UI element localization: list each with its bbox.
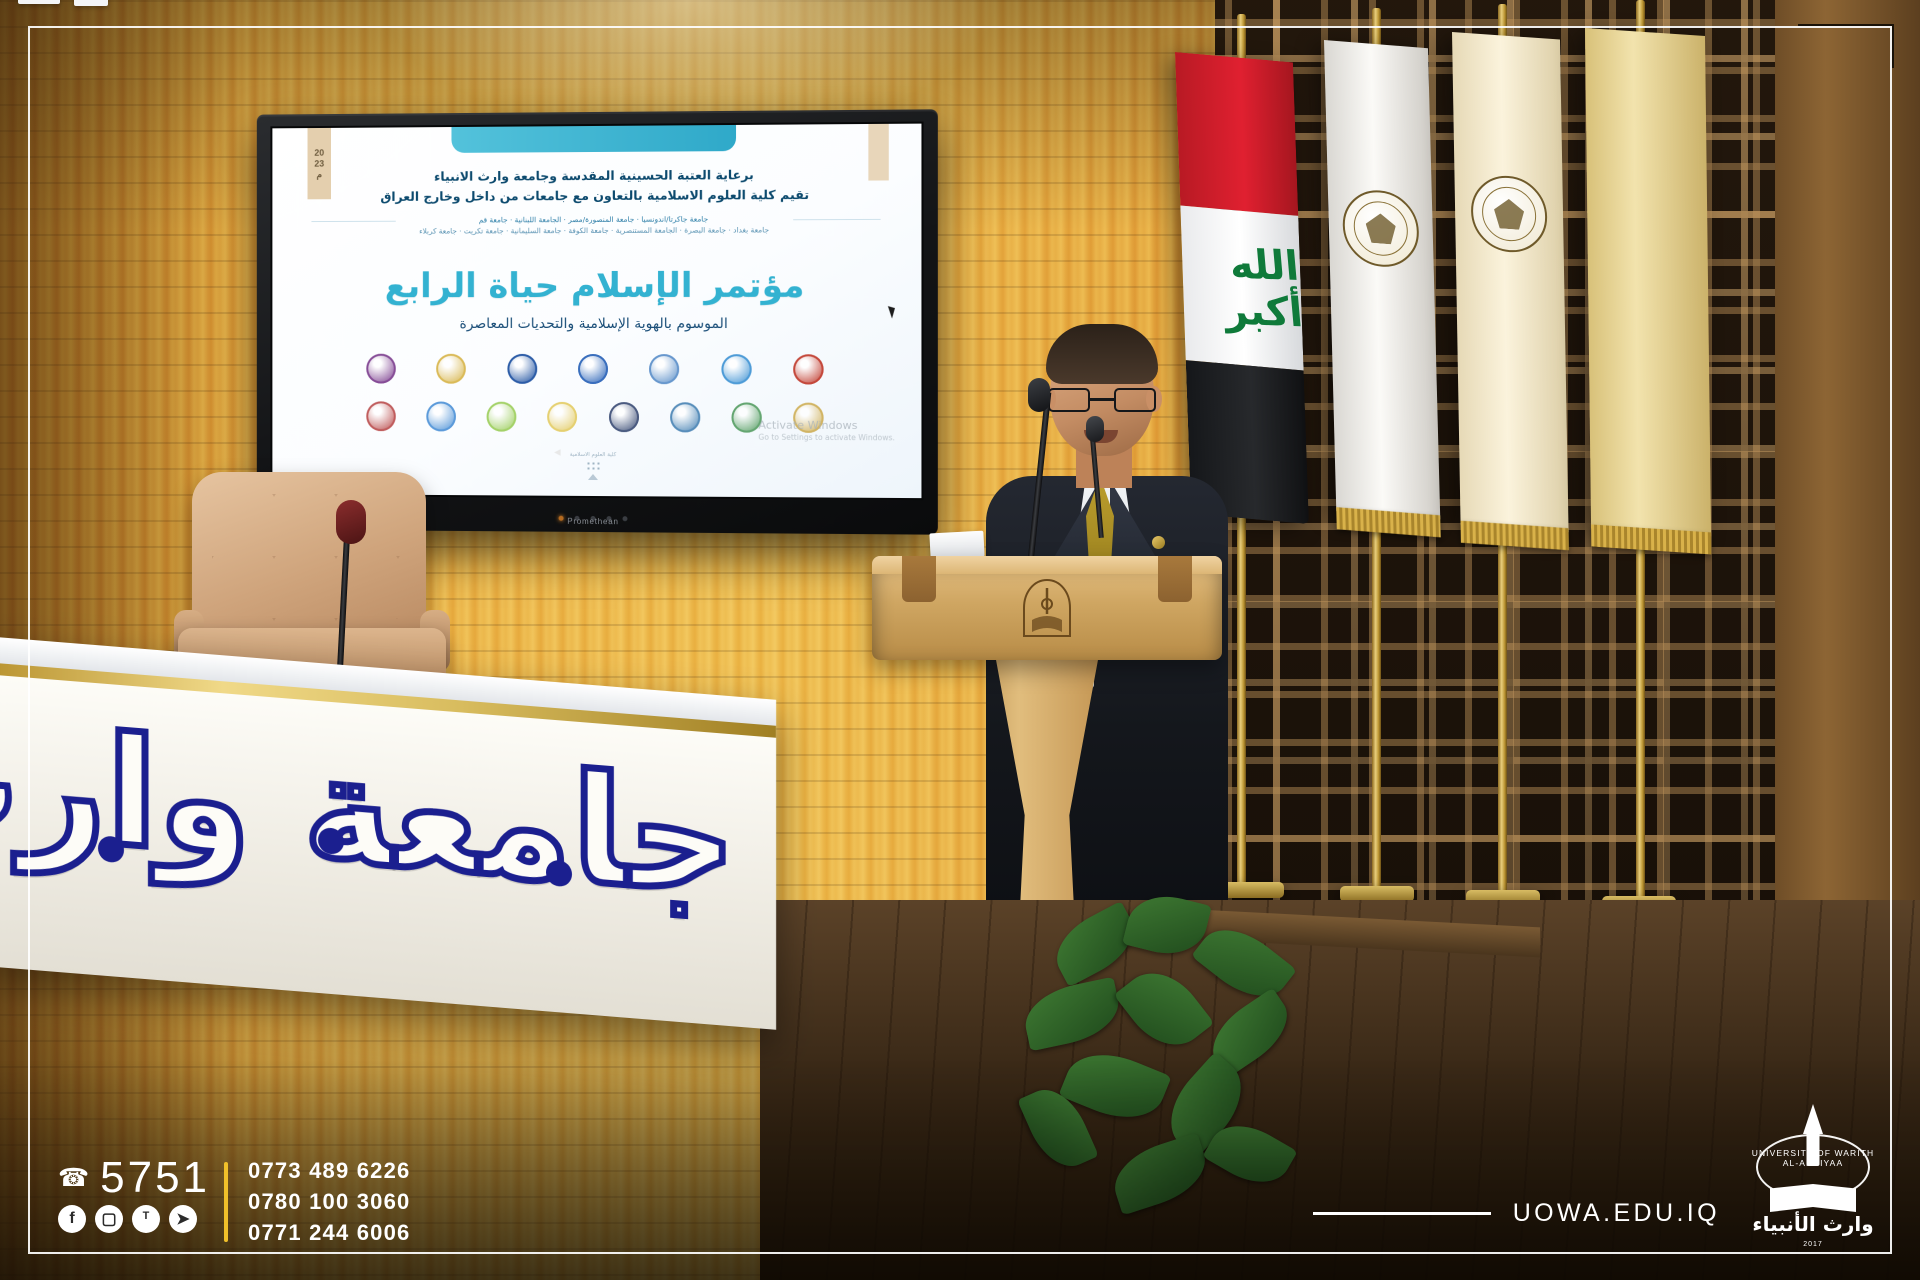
plant-leaf <box>1191 913 1297 1012</box>
podium-microphone-head-1 <box>1028 378 1050 412</box>
phone-icon: ☎ <box>58 1166 89 1191</box>
slide-patron-line: برعاية العتبة الحسينية المقدسة وجامعة وا… <box>272 166 921 185</box>
chair-backrest <box>192 472 426 648</box>
instagram-icon[interactable]: ▢ <box>95 1205 123 1233</box>
speaker-eyeglasses <box>1048 388 1156 412</box>
website-rule <box>1313 1212 1491 1215</box>
frame-notch-right <box>1892 24 1894 68</box>
windows-activation-watermark: Activate Windows Go to Settings to activ… <box>758 419 894 443</box>
front-table: جامعة وارث الأنبياء <box>0 636 776 1030</box>
university-flag <box>1452 32 1569 532</box>
year-part-2: 23 <box>314 158 324 169</box>
website-block: UOWA.EDU.IQ <box>1313 1199 1720 1228</box>
slide-top-accent <box>451 125 736 153</box>
phone-numbers-list: 0773 489 6226 0780 100 3060 0771 244 600… <box>248 1158 410 1246</box>
plant-leaf <box>1019 977 1125 1052</box>
iraq-flag-inscription: الله أكبر <box>1179 240 1305 337</box>
partner-logo <box>366 401 395 431</box>
podium-front-panel <box>872 556 1222 660</box>
partner-logo <box>366 354 395 384</box>
seal-year: 2017 <box>1750 1241 1876 1248</box>
resize-handle-left-icon[interactable]: ◂ <box>554 444 561 460</box>
contact-divider <box>224 1162 228 1242</box>
promethean-display[interactable]: 20 23 م برعاية العتبة الحسينية المقدسة و… <box>257 109 938 534</box>
website-url[interactable]: UOWA.EDU.IQ <box>1513 1199 1720 1228</box>
iraq-flag-red-band <box>1175 52 1298 216</box>
contact-info-block: ☎ 5751 f▢ᵀ➤ 0773 489 6226 0780 100 3060 … <box>58 1158 410 1246</box>
slide-footer-triangle <box>588 474 598 480</box>
phone-number: 0771 244 6006 <box>248 1220 410 1246</box>
eyeglass-bridge <box>1090 398 1114 401</box>
podium-microphone-head-2 <box>1086 416 1104 442</box>
partner-logo <box>670 402 700 432</box>
conference-photo: 20 23 م برعاية العتبة الحسينية المقدسة و… <box>0 0 1920 1280</box>
ministry-seal-emblem-icon <box>1365 212 1396 244</box>
partner-logos <box>366 354 823 433</box>
partner-logo <box>487 402 517 432</box>
logo-row-2 <box>366 401 823 433</box>
hotline-number: 5751 <box>100 1158 210 1198</box>
university-flag-emblem-icon <box>1494 198 1525 230</box>
speaker-lapel-pin <box>1152 536 1165 549</box>
partner-logo <box>793 354 823 384</box>
plant-leaf <box>1106 1133 1215 1216</box>
table-object-2 <box>74 0 108 6</box>
frame-notch-top <box>1798 24 1894 26</box>
slide-footer-text: كلية العلوم الاسلامية <box>272 450 921 459</box>
table-microphone-head <box>336 500 366 544</box>
twitter-icon[interactable]: ᵀ <box>132 1205 160 1233</box>
slide-organizer-line: تقيم كلية العلوم الاسلامية بالتعاون مع ج… <box>272 186 921 204</box>
slide-conference-title: مؤتمر الإسلام حياة الرابع <box>272 265 921 306</box>
university-logo-seal: UNIVERSITY OF WARITH AL-ANBIYAA وارث الأ… <box>1750 1104 1876 1236</box>
watermark-title: Activate Windows <box>758 419 894 433</box>
watermark-subtitle: Go to Settings to activate Windows. <box>758 433 894 443</box>
presentation-slide: 20 23 م برعاية العتبة الحسينية المقدسة و… <box>272 124 921 499</box>
logo-row-1 <box>366 354 823 385</box>
ministry-flag <box>1324 40 1440 519</box>
eyeglass-lens-right <box>1114 388 1156 412</box>
social-icons[interactable]: f▢ᵀ➤ <box>58 1205 210 1233</box>
phone-number: 0773 489 6226 <box>248 1158 410 1184</box>
slide-conference-subtitle: الموسوم بالهوية الإسلامية والتحديات المع… <box>272 316 921 332</box>
partner-logo <box>649 354 679 384</box>
partner-logo <box>548 402 578 432</box>
eyeglass-lens-left <box>1048 388 1090 412</box>
slide-footer-dots <box>586 461 600 471</box>
podium-university-emblem <box>1010 574 1084 648</box>
seal-pen-nib-icon <box>1803 1104 1823 1134</box>
partner-logo <box>609 402 639 432</box>
hotline-row: ☎ 5751 <box>58 1158 210 1198</box>
seal-ring-text: UNIVERSITY OF WARITH AL-ANBIYAA <box>1750 1148 1876 1168</box>
table-banner-text: جامعة وارث الأنبياء <box>0 691 736 933</box>
table-objects <box>18 0 138 10</box>
seal-open-book-icon <box>1770 1184 1856 1212</box>
telegram-icon[interactable]: ➤ <box>169 1205 197 1233</box>
right-gold-flag <box>1585 28 1711 536</box>
chair-tufting-pattern <box>212 494 406 622</box>
contact-left-column: ☎ 5751 f▢ᵀ➤ <box>58 1158 210 1233</box>
slide-universities-row2: جامعة بغداد · جامعة البصرة · الجامعة الم… <box>298 224 895 237</box>
partner-logo <box>436 354 466 384</box>
university-flag-seal <box>1470 173 1547 254</box>
plant-leaf <box>1114 957 1215 1061</box>
partner-logo <box>426 402 456 432</box>
speaker-hair <box>1046 324 1158 384</box>
display-screen[interactable]: 20 23 م برعاية العتبة الحسينية المقدسة و… <box>272 124 921 499</box>
phone-number: 0780 100 3060 <box>248 1189 410 1215</box>
partner-logo <box>731 402 761 432</box>
table-object-1 <box>18 0 60 4</box>
ministry-seal <box>1342 187 1420 269</box>
university-flag-seal-inner <box>1482 185 1537 243</box>
potted-plant <box>1010 890 1330 1280</box>
right-wood-column <box>1775 0 1920 1020</box>
podium-notch-left <box>902 556 936 602</box>
facebook-icon[interactable]: f <box>58 1205 86 1233</box>
podium-notch-right <box>1158 556 1192 602</box>
year-part-1: 20 <box>314 147 324 158</box>
seal-arabic-name: وارث الأنبياء <box>1750 1212 1876 1236</box>
partner-logo <box>721 354 751 384</box>
table-banner: جامعة وارث الأنبياء <box>0 674 776 1030</box>
partner-logo <box>578 354 608 384</box>
partner-logo <box>507 354 537 384</box>
ministry-seal-inner <box>1353 199 1408 257</box>
